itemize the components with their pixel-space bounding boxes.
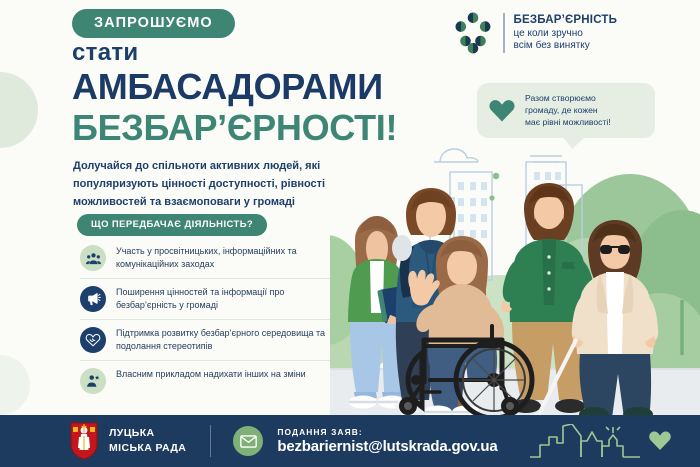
megaphone-icon — [80, 286, 106, 312]
invite-badge: ЗАПРОШУЄМО — [72, 9, 235, 38]
brand-title: БЕЗБАР’ЄРНІСТЬ — [514, 13, 618, 28]
section-badge-activities: ЩО ПЕРЕДБАЧАЄ ДІЯЛЬНІСТЬ? — [77, 214, 267, 236]
list-item: Підтримка розвитку безбар’єрного середов… — [80, 320, 330, 361]
list-item: Власним прикладом надихати інших на змін… — [80, 361, 330, 401]
green-dot — [489, 195, 494, 200]
headline-block: стати АМБАСАДОРАМИ БЕЗБАР’ЄРНОСТІ! — [72, 40, 397, 148]
people-group-icon — [80, 245, 106, 271]
footer-divider — [210, 425, 211, 457]
brand-text: БЕЗБАР’ЄРНІСТЬ це коли зручно всім без в… — [514, 13, 618, 53]
heart-icon — [648, 429, 672, 451]
decorative-circle-bottom-left — [0, 355, 30, 415]
footer-mail-label: ПОДАННЯ ЗАЯВ: — [277, 427, 497, 437]
headline-line-small: стати — [72, 40, 397, 65]
seven-dots-ring-icon — [452, 12, 494, 54]
footer-city-line-1: ЛУЦЬКА — [109, 426, 186, 441]
features-list: Участь у просвітницьких, інформаційних т… — [80, 238, 330, 401]
footer-city-name: ЛУЦЬКА МІСЬКА РАДА — [109, 426, 186, 456]
speech-bubble-line-2: громаду, де кожен — [525, 104, 611, 116]
headline-line-barrierfree: БЕЗБАР’ЄРНОСТІ! — [72, 108, 397, 148]
decorative-circle-left — [0, 72, 38, 148]
green-dot — [493, 173, 499, 179]
list-item-label: Поширення цінностей та інформації про бе… — [116, 285, 330, 312]
lutsk-coat-of-arms-icon — [70, 422, 98, 460]
footer-mail-address[interactable]: bezbariernist@lutskrada.gov.ua — [277, 438, 497, 455]
headline-line-ambassadors: АМБАСАДОРАМИ — [72, 67, 397, 107]
envelope-icon — [233, 426, 263, 456]
speech-bubble-line-1: Разом створюємо — [525, 92, 611, 104]
heart-handshake-icon — [80, 327, 106, 353]
brand-logo: БЕЗБАР’ЄРНІСТЬ це коли зручно всім без в… — [452, 12, 617, 54]
speech-bubble-text: Разом створюємо громаду, де кожен має рі… — [525, 92, 611, 129]
list-item-label: Підтримка розвитку безбар’єрного середов… — [116, 326, 330, 353]
footer-bar: ЛУЦЬКА МІСЬКА РАДА ПОДАННЯ ЗАЯВ: bezbari… — [0, 415, 700, 467]
person-star-icon — [80, 368, 106, 394]
footer-mail-block: ПОДАННЯ ЗАЯВ: bezbariernist@lutskrada.go… — [277, 427, 497, 455]
lead-paragraph: Долучайся до спільноти активних людей, я… — [73, 158, 358, 211]
speech-bubble: Разом створюємо громаду, де кожен має рі… — [477, 83, 655, 138]
speech-bubble-line-3: має рівні можливості! — [525, 116, 611, 128]
illustration-inclusive-group — [330, 140, 700, 420]
brand-subtitle-line-1: це коли зручно — [514, 28, 618, 41]
list-item-label: Власним прикладом надихати інших на змін… — [116, 367, 306, 381]
footer-city-line-2: МІСЬКА РАДА — [109, 441, 186, 456]
heart-icon — [488, 97, 516, 123]
brand-subtitle-line-2: всім без винятку — [514, 40, 618, 53]
list-item: Участь у просвітницьких, інформаційних т… — [80, 238, 330, 279]
city-skyline-icon — [530, 424, 640, 458]
list-item-label: Участь у просвітницьких, інформаційних т… — [116, 244, 330, 271]
brand-divider — [503, 13, 505, 53]
footer-city-block: ЛУЦЬКА МІСЬКА РАДА — [70, 422, 186, 460]
poster-root: ЗАПРОШУЄМО стати АМБАСАДОРАМИ БЕЗБАР’ЄРН… — [0, 0, 700, 467]
list-item: Поширення цінностей та інформації про бе… — [80, 279, 330, 320]
